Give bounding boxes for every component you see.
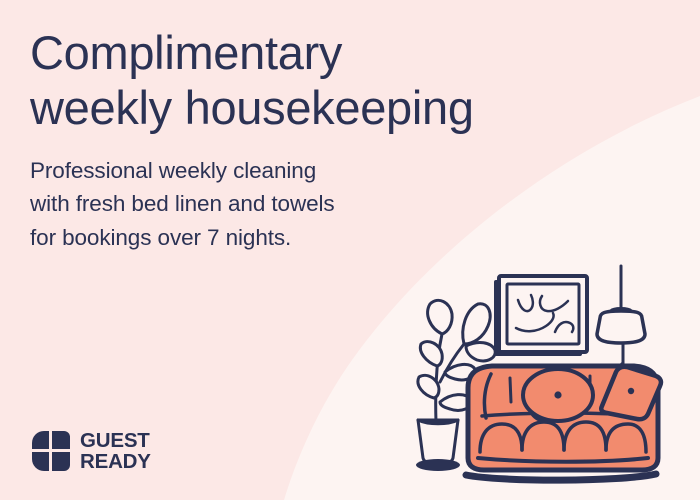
page-title: Complimentary weekly housekeeping (30, 26, 590, 136)
brand-logo: GUEST READY (31, 430, 151, 472)
guestready-quadrant-mark-icon (31, 430, 71, 472)
subtitle-text: Professional weekly cleaning with fresh … (30, 154, 590, 254)
copy-block: Complimentary weekly housekeeping Profes… (30, 26, 590, 254)
promo-poster: Complimentary weekly housekeeping Profes… (0, 0, 700, 500)
brand-wordmark: GUEST READY (80, 430, 151, 472)
pendant-lamp-icon (597, 266, 645, 369)
round-cushion-icon (523, 369, 593, 423)
brand-wordmark-line-1: GUEST (80, 430, 151, 451)
framed-picture-icon (494, 276, 587, 356)
sofa-icon (466, 366, 661, 480)
living-room-illustration (390, 262, 690, 492)
brand-wordmark-line-2: READY (80, 451, 151, 472)
